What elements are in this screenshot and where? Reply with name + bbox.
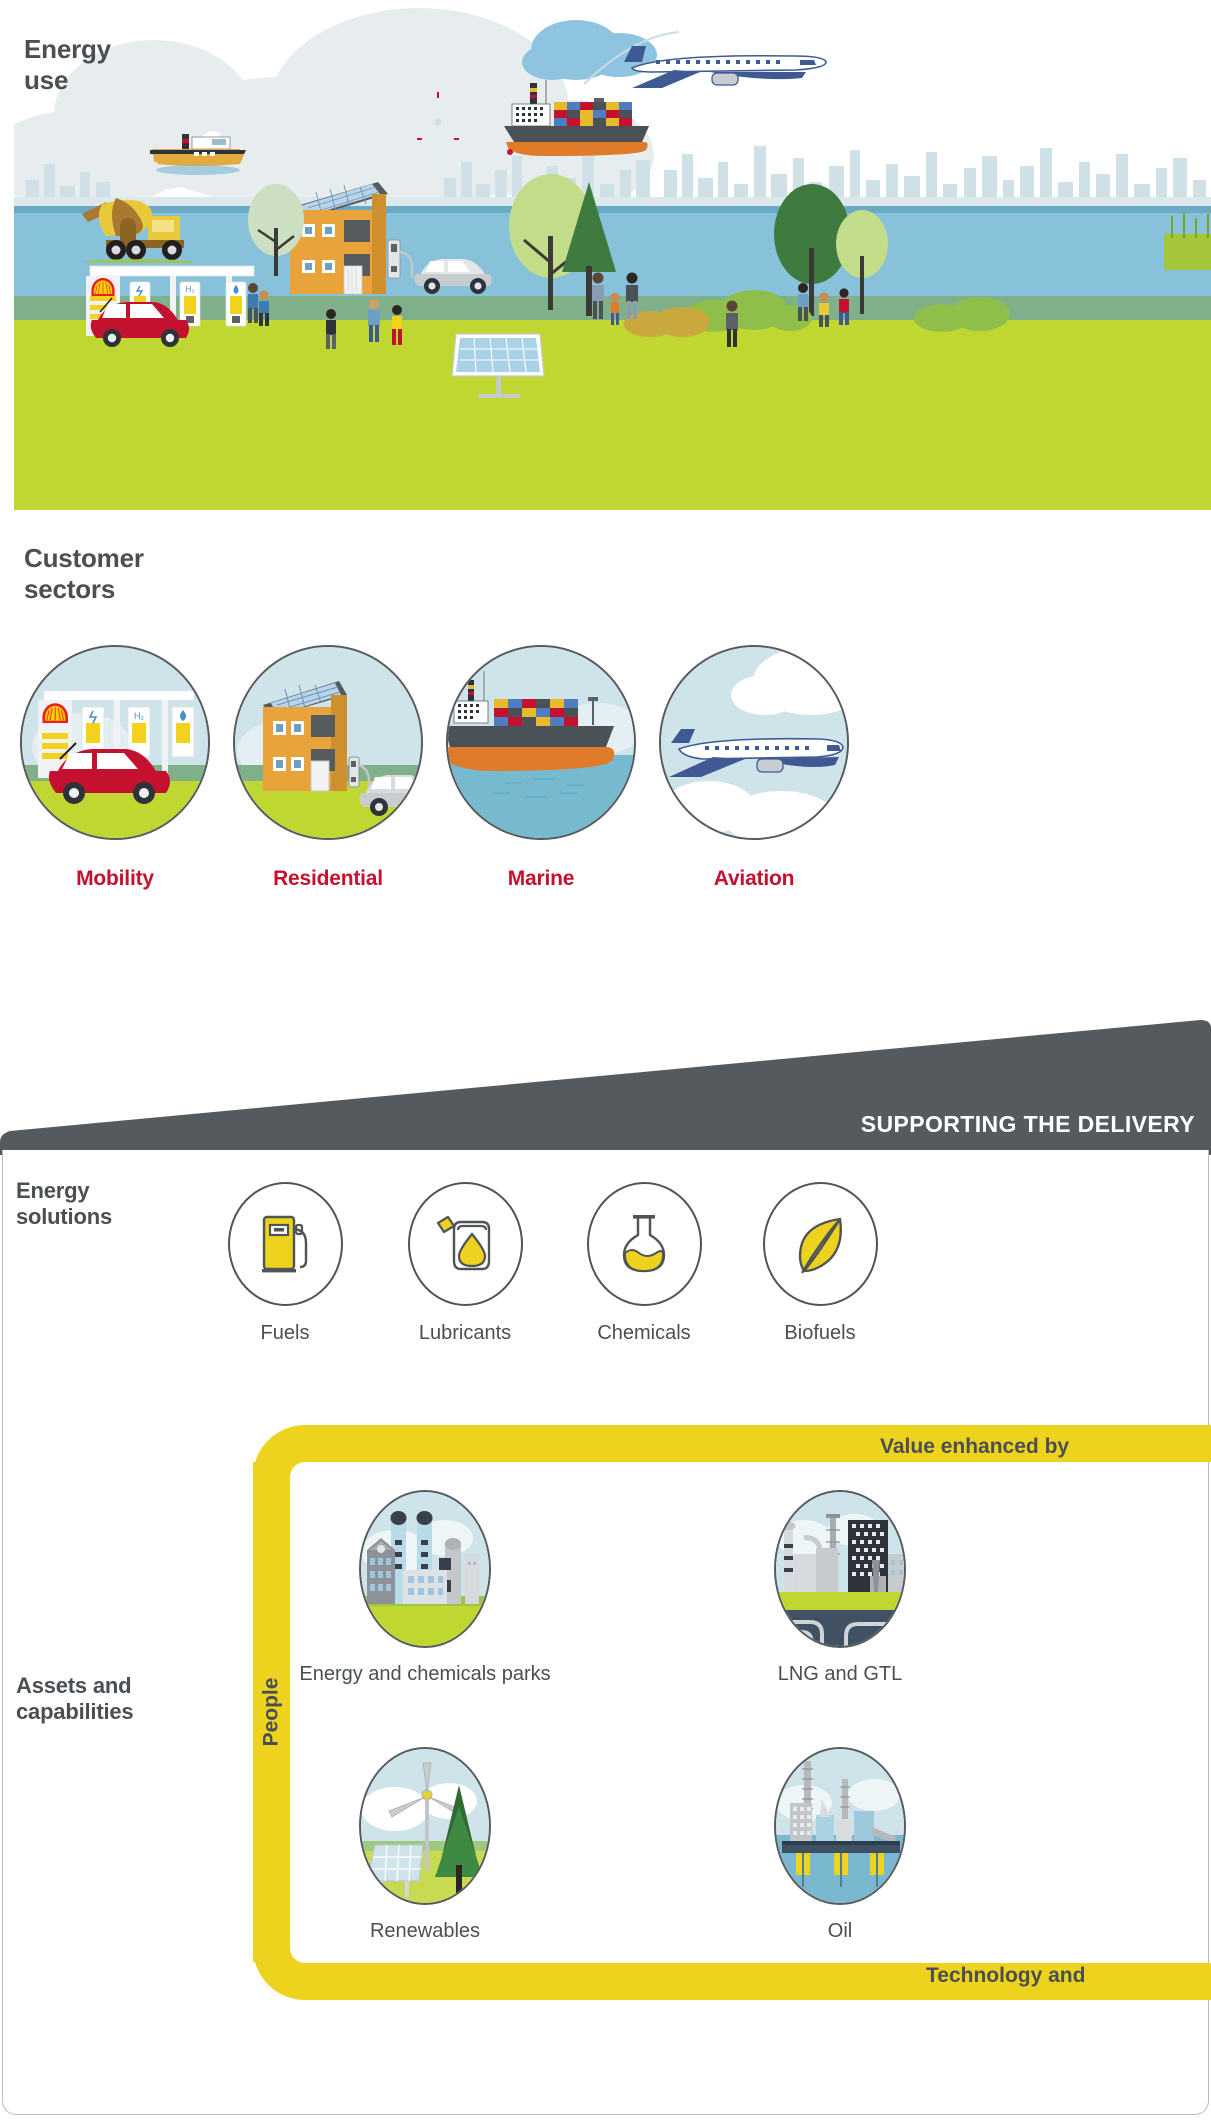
- ev-charger-car-icon: [386, 238, 506, 300]
- sector-image-marine: [446, 645, 636, 840]
- energy-solutions-row: Fuels Lubricants Chemical: [0, 1182, 1211, 1412]
- energy-use-illustration: H₂: [14, 0, 1211, 510]
- container-ship-icon: [474, 80, 674, 160]
- energy-use-label: Energy use: [24, 34, 111, 95]
- customer-sectors-label: Customer sectors: [24, 543, 144, 604]
- wind-solar-icon: [359, 1747, 491, 1905]
- flask-icon: [587, 1182, 702, 1306]
- person-icon: [720, 300, 744, 348]
- asset-label: Renewables: [245, 1920, 605, 1943]
- sector-image-mobility: H₂: [20, 645, 210, 840]
- asset-card-oil[interactable]: Oil: [660, 1747, 1020, 1943]
- assets-capabilities-grid: Energy and chemicals parks: [300, 1490, 1211, 1970]
- asset-label: LNG and GTL: [660, 1663, 1020, 1686]
- asset-label: Oil: [660, 1920, 1020, 1943]
- people-label: People: [260, 1678, 284, 1747]
- infographic-page: H₂: [0, 0, 1211, 2125]
- lng-plant-icon: [774, 1490, 906, 1648]
- asset-card-energy-chemicals-parks[interactable]: Energy and chemicals parks: [245, 1490, 605, 1686]
- solution-label: Biofuels: [700, 1322, 940, 1345]
- asset-card-renewables[interactable]: Renewables: [245, 1747, 605, 1943]
- value-enhanced-by-label: Value enhanced by: [880, 1435, 1069, 1459]
- ground-solar-panel-icon: [444, 328, 554, 408]
- svg-text:H₂: H₂: [186, 285, 195, 294]
- banner-text: SUPPORTING THE DELIVERY: [861, 1111, 1195, 1138]
- tree-icon: [246, 180, 306, 280]
- sector-card-aviation[interactable]: Aviation: [629, 645, 879, 891]
- sector-label: Aviation: [629, 867, 879, 891]
- person-icon: [254, 290, 274, 328]
- svg-text:H₂: H₂: [134, 711, 144, 721]
- asset-card-lng-gtl[interactable]: LNG and GTL: [660, 1490, 1020, 1686]
- wind-turbine-icon: [416, 88, 460, 178]
- person-icon: [620, 272, 644, 320]
- person-icon: [362, 298, 386, 344]
- solution-card-biofuels[interactable]: Biofuels: [700, 1182, 940, 1345]
- fuel-pump-icon: [228, 1182, 343, 1306]
- sector-image-residential: [233, 645, 423, 840]
- crop-field-icon: [1164, 210, 1211, 270]
- person-icon: [792, 282, 814, 322]
- offshore-rig-icon: [774, 1747, 906, 1905]
- supporting-delivery-banner: SUPPORTING THE DELIVERY: [0, 1020, 1211, 1155]
- oil-can-icon: [408, 1182, 523, 1306]
- leaf-icon: [763, 1182, 878, 1306]
- chemicals-plant-icon: [359, 1490, 491, 1648]
- sector-image-aviation: [659, 645, 849, 840]
- person-icon: [814, 292, 834, 328]
- bush-icon: [914, 290, 1014, 332]
- person-icon: [320, 308, 342, 350]
- tugboat-icon: [134, 120, 274, 176]
- person-icon: [834, 288, 854, 326]
- customer-sectors-row: H₂ Mobility: [0, 645, 1211, 895]
- person-icon: [386, 304, 408, 346]
- assets-capabilities-label: Assets and capabilities: [16, 1673, 133, 1725]
- asset-label: Energy and chemicals parks: [245, 1663, 605, 1686]
